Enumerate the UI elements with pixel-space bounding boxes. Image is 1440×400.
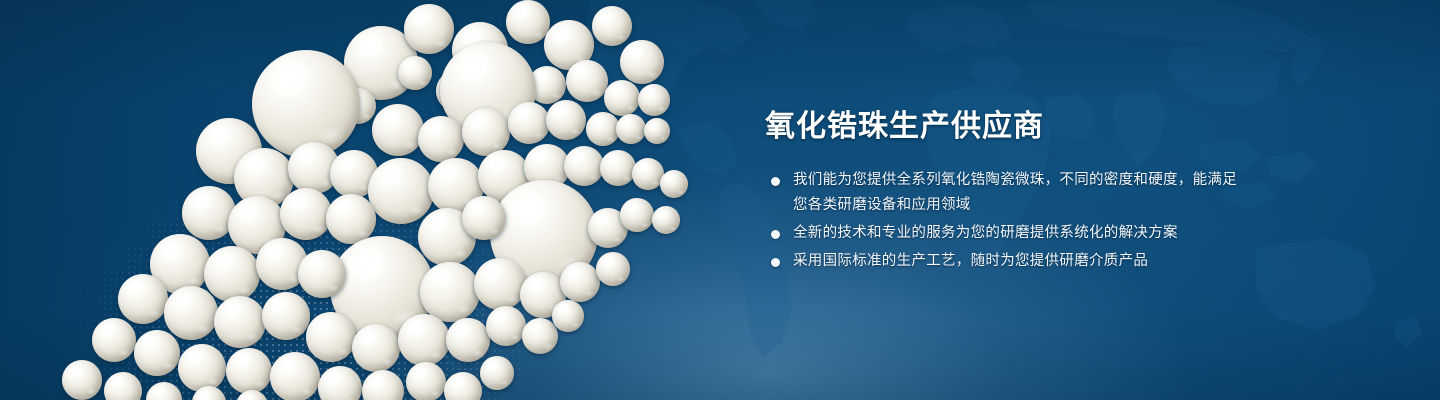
page-title: 氧化锆珠生产供应商	[765, 108, 1044, 146]
list-item: 采用国际标准的生产工艺，随时为您提供研磨介质产品	[767, 249, 1237, 274]
list-item-label: 我们能为您提供全系列氧化锆陶瓷微珠，不同的密度和硬度，能满足您各类研磨设备和应用…	[793, 168, 1237, 218]
feature-list: 我们能为您提供全系列氧化锆陶瓷微珠，不同的密度和硬度，能满足您各类研磨设备和应用…	[767, 168, 1237, 277]
list-item: 全新的技术和专业的服务为您的研磨提供系统化的解决方案	[767, 221, 1237, 246]
hero-banner: 氧化锆珠生产供应商 我们能为您提供全系列氧化锆陶瓷微珠，不同的密度和硬度，能满足…	[0, 0, 1440, 400]
list-item-label: 全新的技术和专业的服务为您的研磨提供系统化的解决方案	[793, 221, 1237, 246]
banner-content: 氧化锆珠生产供应商 我们能为您提供全系列氧化锆陶瓷微珠，不同的密度和硬度，能满足…	[765, 0, 1405, 400]
list-item: 我们能为您提供全系列氧化锆陶瓷微珠，不同的密度和硬度，能满足您各类研磨设备和应用…	[767, 168, 1237, 218]
dot-bullet-icon	[771, 177, 780, 186]
dot-bullet-icon	[771, 230, 780, 239]
list-item-label: 采用国际标准的生产工艺，随时为您提供研磨介质产品	[793, 249, 1237, 274]
dot-bullet-icon	[771, 258, 780, 267]
